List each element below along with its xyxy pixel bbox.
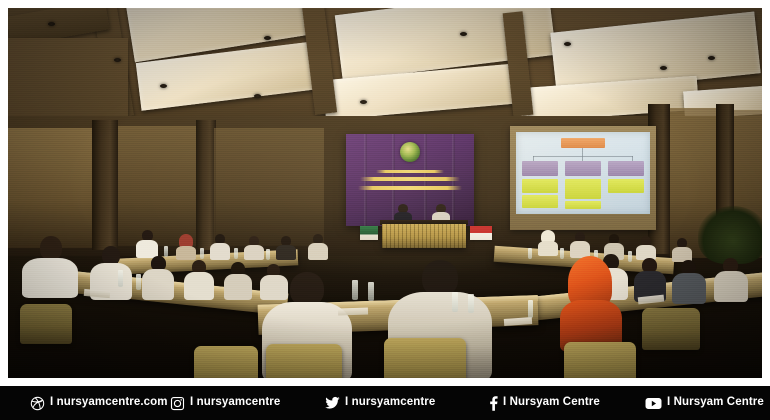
slide-detail-box (565, 201, 601, 209)
attendee (636, 236, 656, 260)
water-bottle (234, 248, 238, 259)
water-bottle (352, 280, 358, 300)
photo-scene (8, 8, 762, 378)
social-handle-facebook: I Nursyam Centre (503, 397, 600, 409)
slide-node-box (565, 161, 601, 176)
attendee (224, 262, 252, 300)
attendee (570, 232, 590, 258)
wall-panel (8, 128, 94, 248)
water-bottle (628, 251, 632, 262)
water-bottle (368, 282, 374, 301)
downlight-icon (360, 100, 367, 104)
slide-header-box (561, 138, 605, 148)
wall-pillar (92, 120, 118, 250)
globe-icon (30, 396, 45, 411)
woman-in-orange-hijab (560, 256, 622, 352)
water-bottle (528, 300, 533, 318)
attendee (22, 236, 78, 298)
instagram-icon (170, 396, 185, 411)
attendee (210, 234, 230, 260)
slide-node-box (522, 161, 558, 176)
social-link-website[interactable]: I nursyamcentre.com (30, 396, 168, 411)
water-bottle (468, 294, 474, 313)
slide-detail-box (522, 179, 558, 193)
banner-text-line (360, 177, 460, 181)
attendee (142, 256, 174, 300)
projection-screen (516, 132, 650, 214)
water-bottle (452, 292, 458, 312)
photo-card (0, 0, 770, 386)
attendee (176, 234, 196, 260)
water-bottle (118, 270, 123, 287)
chair (194, 346, 258, 378)
downlight-icon (114, 58, 121, 62)
social-link-instagram[interactable]: I nursyamcentre (170, 396, 280, 411)
downlight-icon (48, 22, 55, 26)
attendee (672, 260, 706, 304)
social-handle-instagram: I nursyamcentre (190, 397, 280, 409)
banner-emblem-icon (400, 142, 420, 162)
downlight-icon (660, 66, 667, 70)
wall-pillar (196, 120, 216, 250)
downlight-icon (564, 42, 571, 46)
twitter-icon (325, 396, 340, 411)
green-flag (360, 226, 378, 240)
slide-detail-box (565, 179, 601, 199)
slide-detail-box (522, 195, 558, 208)
downlight-icon (708, 56, 715, 60)
water-bottle (200, 248, 204, 259)
social-link-youtube[interactable]: I Nursyam Centre (645, 396, 764, 411)
youtube-icon (645, 396, 662, 411)
head-table (382, 224, 466, 248)
attendee (276, 236, 296, 260)
attendee (184, 260, 214, 300)
water-bottle (528, 248, 532, 259)
water-bottle (136, 274, 141, 290)
wall-panel (214, 128, 324, 246)
indonesia-flag (470, 226, 492, 240)
social-handle-twitter: I nursyamcentre (345, 397, 435, 409)
social-link-twitter[interactable]: I nursyamcentre (325, 396, 435, 411)
social-handle-website: I nursyamcentre.com (50, 397, 168, 409)
wall-panel (118, 126, 198, 246)
attendee (538, 230, 558, 256)
attendee (244, 236, 264, 260)
potted-plant (698, 206, 762, 264)
downlight-icon (254, 94, 261, 98)
attendee (136, 230, 158, 258)
chair (564, 342, 636, 378)
social-footer-bar: I nursyamcentre.com I nursyamcentre I nu… (0, 386, 770, 420)
slide-node-box (608, 161, 644, 176)
downlight-icon (264, 36, 271, 40)
chair (384, 338, 466, 378)
social-link-facebook[interactable]: I Nursyam Centre (489, 396, 600, 411)
banner-text-line (358, 186, 462, 190)
conference-photo (8, 8, 762, 378)
banner-text-line (376, 170, 444, 173)
attendee (714, 258, 748, 302)
facebook-icon (489, 396, 498, 411)
downlight-icon (460, 32, 467, 36)
downlight-icon (160, 84, 167, 88)
chair (266, 344, 342, 378)
slide-detail-box (608, 179, 644, 193)
water-bottle (266, 249, 270, 260)
chair (642, 308, 700, 350)
social-handle-youtube: I Nursyam Centre (667, 397, 764, 409)
chair (20, 304, 72, 344)
document (338, 307, 368, 315)
attendee (308, 234, 328, 260)
attendee (672, 238, 692, 262)
